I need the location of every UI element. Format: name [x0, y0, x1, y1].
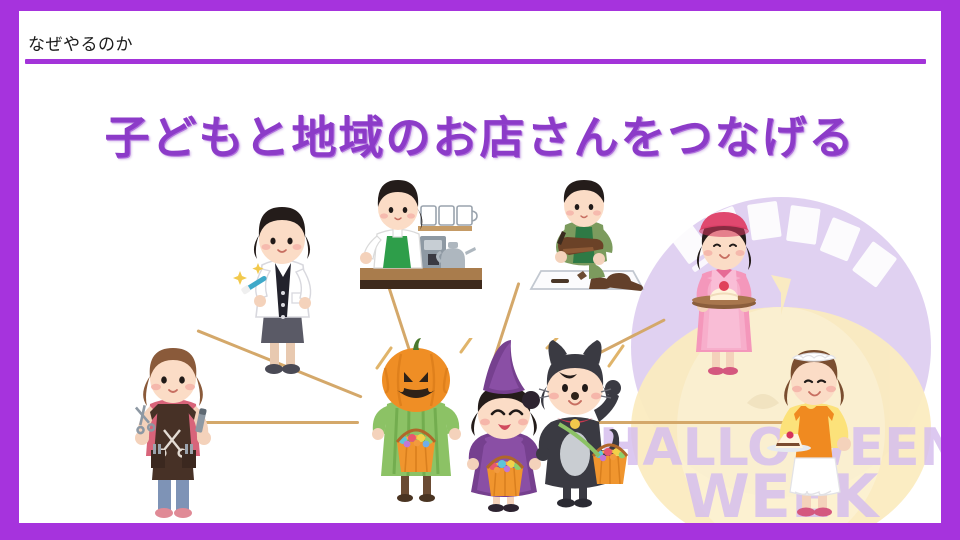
figure-pharmacist [232, 201, 332, 381]
figure-shoe-repair [529, 179, 654, 299]
frame-left-border [0, 0, 19, 540]
page-title: なぜやるのか [28, 30, 133, 55]
figure-waitress [759, 346, 869, 523]
frame-bottom-border [0, 523, 960, 540]
figure-kids-in-costume [371, 338, 631, 523]
figure-cafe-staff [346, 174, 491, 299]
frame-right-border [941, 0, 960, 540]
figure-hairdresser [118, 346, 228, 523]
frame-top-border [0, 0, 960, 11]
figure-pastry-chef [672, 208, 772, 383]
slide: HALLOWEEN WEEK なぜやるのか 子どもと地域のお店さんをつなげる [0, 0, 960, 540]
header-divider [25, 59, 926, 64]
slide-headline: 子どもと地域のお店さんをつなげる [19, 101, 941, 166]
slide-page: HALLOWEEN WEEK なぜやるのか 子どもと地域のお店さんをつなげる [19, 11, 941, 523]
